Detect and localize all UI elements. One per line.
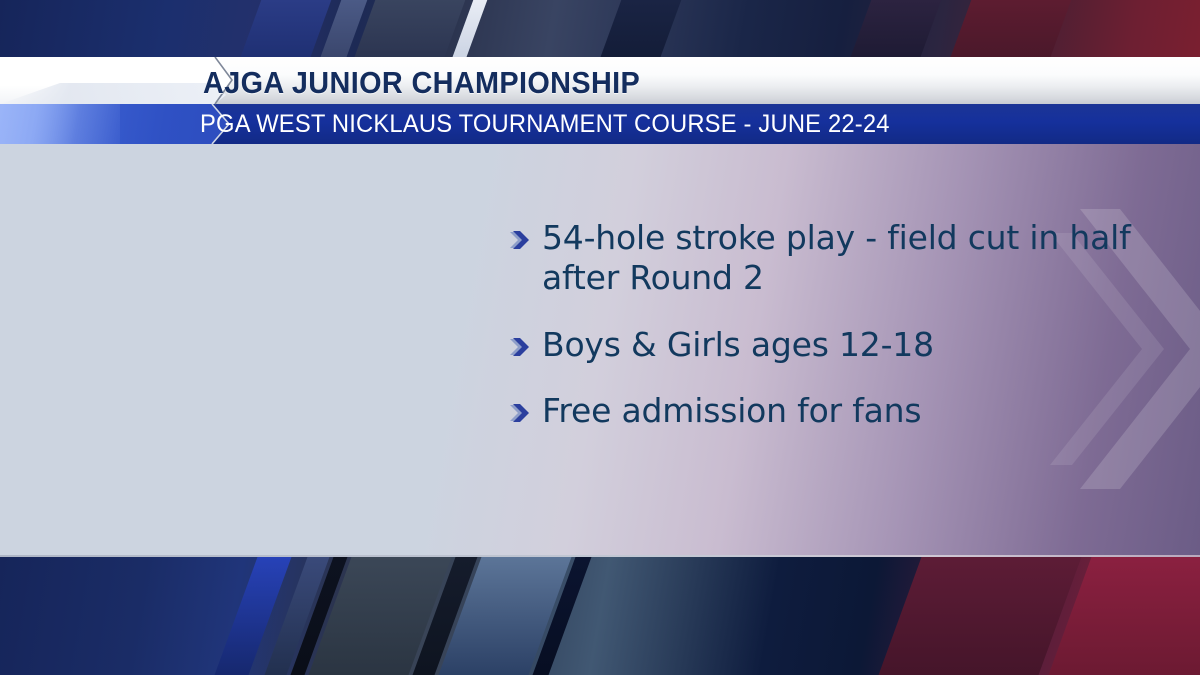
bottom-background-band xyxy=(0,557,1200,675)
banner-left-blue-highlight xyxy=(0,104,120,144)
list-item: Boys & Girls ages 12-18 xyxy=(508,325,1168,365)
double-chevron-right-icon xyxy=(508,218,542,256)
top-stripe-5 xyxy=(471,0,614,62)
top-stripe-6 xyxy=(599,0,682,62)
list-item: Free admission for fans xyxy=(508,391,1168,431)
bottom-stripe-8 xyxy=(879,557,1082,675)
title-banner: AJGA JUNIOR CHAMPIONSHIP PGA WEST NICKLA… xyxy=(0,57,1200,144)
bullet-text: Free admission for fans xyxy=(542,391,1168,431)
double-chevron-right-icon xyxy=(508,325,542,363)
bullet-list: 54-hole stroke play - field cut in half … xyxy=(508,218,1168,431)
page-title: AJGA JUNIOR CHAMPIONSHIP xyxy=(203,61,640,104)
top-stripe-7 xyxy=(849,0,942,62)
list-item: 54-hole stroke play - field cut in half … xyxy=(508,218,1168,299)
top-stripe-1 xyxy=(239,0,332,62)
top-stripe-8 xyxy=(949,0,1072,62)
top-stripe-3 xyxy=(353,0,466,62)
content-panel: 54-hole stroke play - field cut in half … xyxy=(0,141,1200,557)
broadcast-graphic-slide: 54-hole stroke play - field cut in half … xyxy=(0,0,1200,675)
top-background-band xyxy=(0,0,1200,62)
bullet-text: 54-hole stroke play - field cut in half … xyxy=(542,218,1168,299)
bullet-text: Boys & Girls ages 12-18 xyxy=(542,325,1168,365)
banner-subtitle: PGA WEST NICKLAUS TOURNAMENT COURSE - JU… xyxy=(200,106,890,142)
double-chevron-right-icon xyxy=(508,391,542,429)
